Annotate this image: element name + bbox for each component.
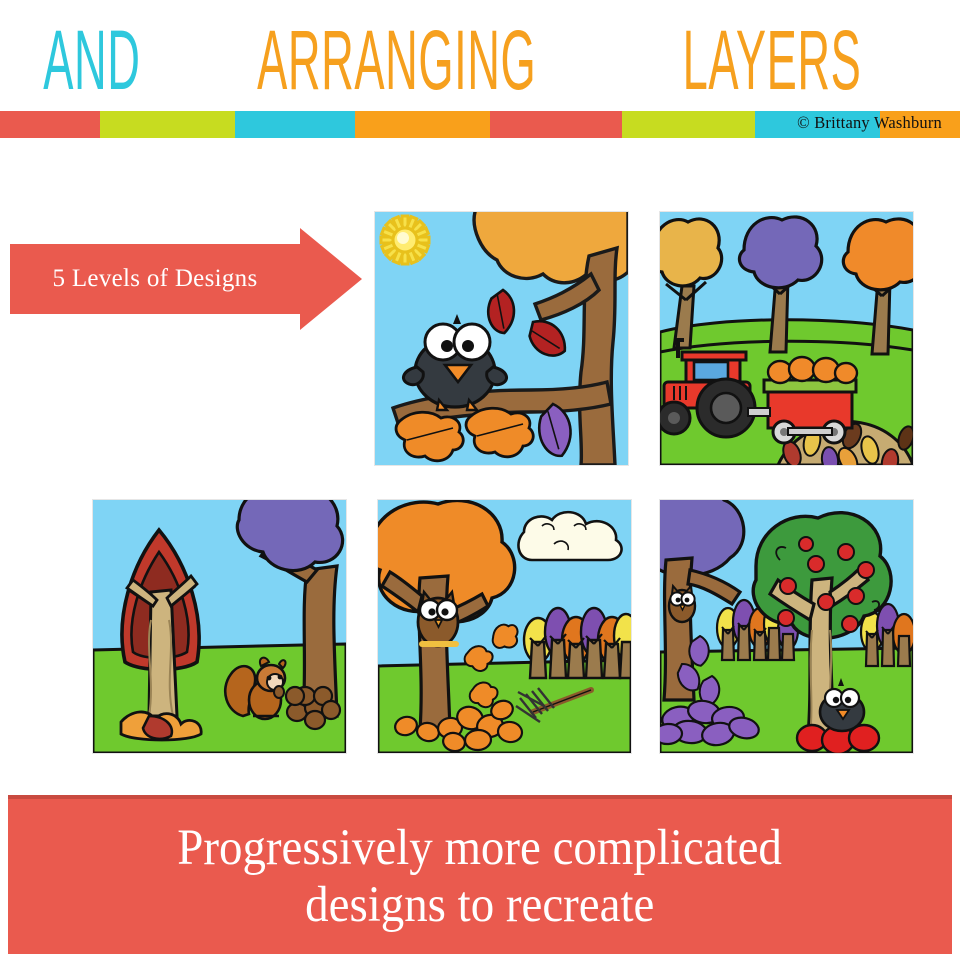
page-title: RESIZING AND ARRANGING LAYERS PRACTICE (0, 14, 960, 106)
stripe-segment-5 (622, 111, 755, 138)
stripe-segment-1 (100, 111, 235, 138)
banner-line-1: Progressively more complicated (178, 820, 783, 877)
arrow-callout: 5 Levels of Designs (10, 228, 362, 330)
design-panel-level-1[interactable] (375, 212, 628, 465)
title-word-layers: LAYERS (682, 18, 861, 102)
small-tree-row (524, 608, 631, 678)
stripe-segment-0 (0, 111, 100, 138)
title-word-and: AND (44, 18, 141, 102)
stripe-segment-2 (235, 111, 355, 138)
design-panel-level-5[interactable] (660, 500, 913, 753)
bottom-banner: Progressively more complicated designs t… (8, 795, 952, 954)
design-panel-level-2[interactable] (660, 212, 913, 465)
poster-page: RESIZING AND ARRANGING LAYERS PRACTICE ©… (0, 0, 960, 960)
stripe-segment-4 (490, 111, 622, 138)
arrow-label: 5 Levels of Designs (10, 228, 300, 330)
title-word-arranging: ARRANGING (257, 18, 536, 102)
banner-line-2: designs to recreate (305, 877, 654, 934)
owl-icon (669, 586, 695, 622)
design-panel-level-4[interactable] (378, 500, 631, 753)
owl-icon (418, 592, 458, 646)
pumpkin-wagon (764, 357, 857, 443)
copyright-text: © Brittany Washburn (797, 113, 942, 133)
stripe-segment-3 (355, 111, 490, 138)
design-panel-level-3[interactable] (93, 500, 346, 753)
